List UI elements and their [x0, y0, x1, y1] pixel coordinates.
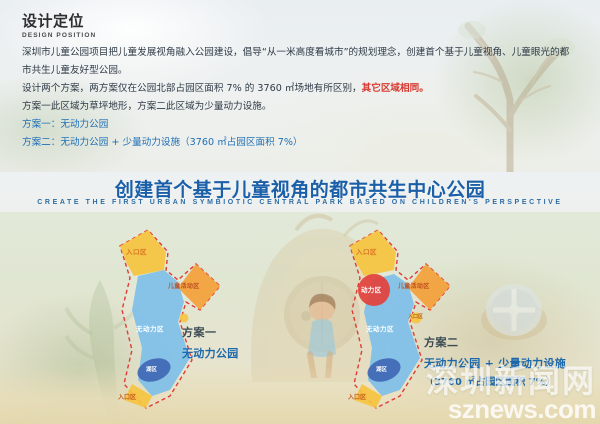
plan-two-zone-children-activity: 儿童活动区	[398, 281, 430, 290]
wooden-wheel-illustration	[478, 280, 550, 342]
plan-two-zone-no-power: 无动力区	[366, 323, 394, 333]
description-paragraph-1: 深圳市儿童公园项目把儿童发展视角融入公园建设，倡导“从一米高度看城市”的规划理念…	[22, 44, 574, 80]
plan-two-area-note: （3760 ㎡占园区面积 7%）	[424, 373, 566, 388]
poster-root: 设计定位 DESIGN POSITION 深圳市儿童公园项目把儿童发展视角融入公…	[0, 0, 600, 424]
plan-two-zone-lake: 湖区	[376, 365, 387, 373]
plan-one-diagram[interactable]: 入口区 儿童活动区 无动力区 湖区 入口区	[108, 218, 238, 414]
plan-one-small-node	[180, 314, 189, 323]
plan-one-zone-entrance-bottom: 入口区	[118, 392, 136, 401]
panel-title-block: 设计定位 DESIGN POSITION	[22, 14, 96, 39]
page-title: 设计定位	[22, 14, 96, 29]
plan-two-zone-small-entrance: 入口区	[408, 313, 423, 320]
description-paragraph-3: 方案一此区域为草坪地形，方案二此区域为少量动力设施。	[22, 98, 574, 116]
plan-two-zone-power: 动力区	[361, 284, 381, 294]
plan-two-subtitle: 无动力公园 + 少量动力设施	[424, 355, 566, 371]
paragraph-2-text: 设计两个方案，两方案仅在公园北部占园区面积 7% 的 3760 ㎡场地有所区别，	[22, 83, 362, 94]
plan-two-title: 方案二	[424, 334, 566, 350]
plan-two-zone-entrance-bottom: 入口区	[348, 392, 366, 401]
page-subtitle: DESIGN POSITION	[22, 32, 96, 39]
plan-one-zone-no-power: 无动力区	[136, 323, 164, 333]
description-paragraph-2: 设计两个方案，两方案仅在公园北部占园区面积 7% 的 3760 ㎡场地有所区别，…	[22, 80, 574, 98]
plan-one-caption: 方案一 无动力公园	[182, 324, 239, 361]
illustration-band: 入口区 儿童活动区 无动力区 湖区 入口区 方案一 无动力公园 入口区	[0, 212, 600, 424]
headline-chinese: 创建首个基于儿童视角的都市共生中心公园	[0, 175, 600, 202]
description-plan-one: 方案一：无动力公园	[22, 116, 574, 134]
plan-two-zone-entrance-top: 入口区	[356, 246, 377, 256]
plan-one-title: 方案一	[182, 324, 239, 340]
plan-one-zone-entrance-top: 入口区	[126, 246, 147, 256]
design-position-panel: 设计定位 DESIGN POSITION 深圳市儿童公园项目把儿童发展视角融入公…	[0, 0, 600, 172]
plan-one-zone-lake: 湖区	[146, 365, 157, 373]
highlight-same-areas: 其它区域相同。	[362, 83, 429, 94]
plan-one-zone-children-activity: 儿童活动区	[168, 281, 200, 290]
plan-one-subtitle: 无动力公园	[182, 345, 239, 361]
headline-band: 创建首个基于儿童视角的都市共生中心公园 CREATE THE FIRST URB…	[0, 172, 600, 212]
description-plan-two: 方案二：无动力公园 + 少量动力设施（3760 ㎡占园区面积 7%）	[22, 134, 574, 152]
plan-two-caption: 方案二 无动力公园 + 少量动力设施 （3760 ㎡占园区面积 7%）	[424, 334, 566, 388]
headline-english: CREATE THE FIRST URBAN SYMBIOTIC CENTRAL…	[0, 199, 600, 206]
design-description: 深圳市儿童公园项目把儿童发展视角融入公园建设，倡导“从一米高度看城市”的规划理念…	[22, 44, 574, 152]
